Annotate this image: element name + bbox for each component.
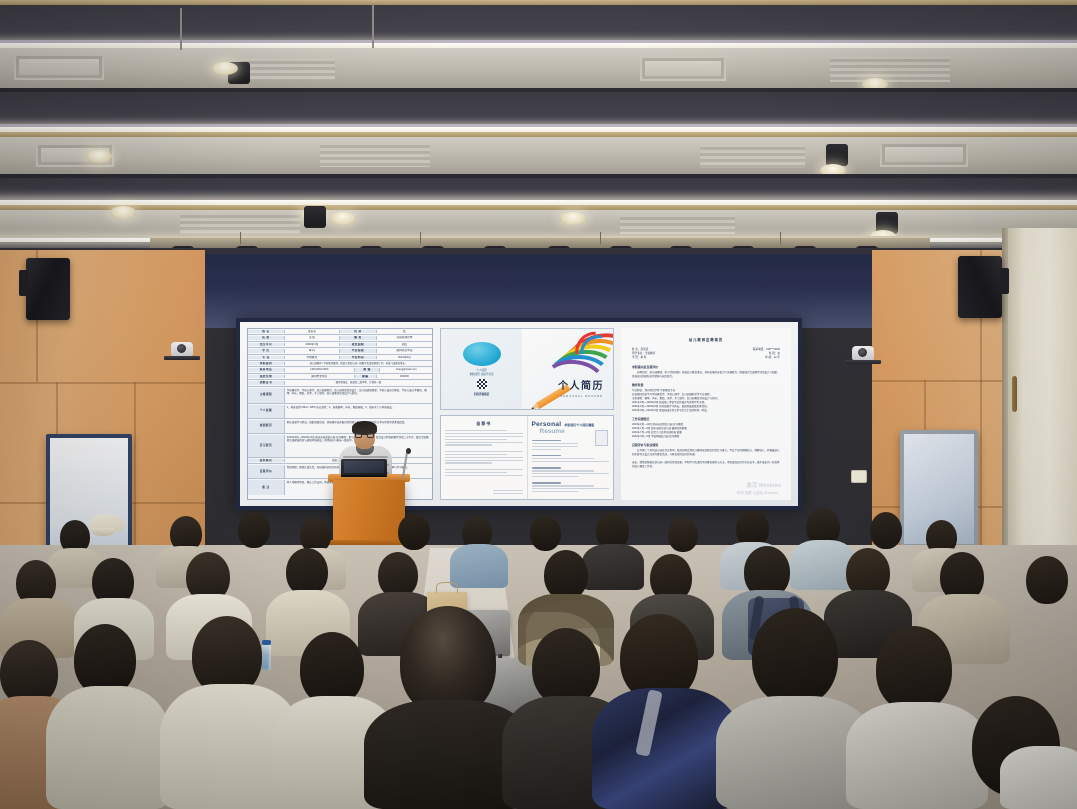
audience-head — [870, 512, 902, 549]
ceiling — [0, 0, 1077, 248]
lecture-hall-photo: 姓 名张某某性 别女 民 族汉 族籍 贯河南省郑州市 出生年月2002年3月政治… — [0, 0, 1077, 809]
projection-screen: 姓 名张某某性 别女 民 族汉 族籍 贯河南省郑州市 出生年月2002年3月政治… — [236, 318, 802, 510]
laptop[interactable] — [341, 459, 387, 477]
slide-panel-document: 幼儿教师应聘简历 姓 名：张某某 所学专业：学前教育 学 历：本 科 联系电话：… — [621, 328, 791, 500]
audience-head — [876, 626, 952, 712]
audience-head — [398, 514, 430, 550]
water-bottle — [262, 644, 271, 670]
wall-speaker-right — [958, 256, 1002, 318]
windows-activation-watermark: 激活 Windows 转到"设置"以激活 Windows。 — [737, 483, 781, 496]
track-light-icon — [826, 144, 848, 166]
audience-head — [530, 516, 561, 551]
wall-outlet[interactable] — [851, 470, 867, 483]
audience-head — [238, 512, 270, 548]
template-sheets-thumbnail: 自荐书 Personal 求职简历个人简历模板 — [440, 415, 614, 500]
slide-content: 姓 名张某某性 别女 民 族汉 族籍 贯河南省郑州市 出生年月2002年3月政治… — [240, 322, 798, 506]
audience-head — [544, 550, 588, 600]
ribbon-pencil-graphic: 个人简历 PERSONAL RESUME — [522, 329, 613, 409]
wall-speaker-left — [26, 258, 70, 320]
ptz-camera-left — [164, 340, 200, 360]
qr-code-icon — [477, 379, 487, 389]
slide-panel-templates: 个人简历 求职简历·应届毕业生 扫码查看简历 — [440, 328, 614, 500]
lectern — [333, 480, 405, 546]
ptz-camera-right — [845, 344, 881, 364]
photo-placeholder — [595, 430, 608, 446]
audience-head — [752, 608, 838, 706]
microphone-icon — [406, 448, 411, 454]
track-light-icon — [304, 206, 326, 228]
audience-head — [532, 628, 600, 706]
template-cover-thumbnail: 个人简历 求职简历·应届毕业生 扫码查看简历 — [440, 328, 614, 410]
audience-head — [286, 548, 328, 596]
audience-head — [300, 632, 364, 706]
glasses-icon — [355, 433, 374, 438]
audience-head — [1026, 556, 1068, 604]
decorative-blob — [463, 342, 501, 366]
audience-head — [668, 518, 698, 552]
